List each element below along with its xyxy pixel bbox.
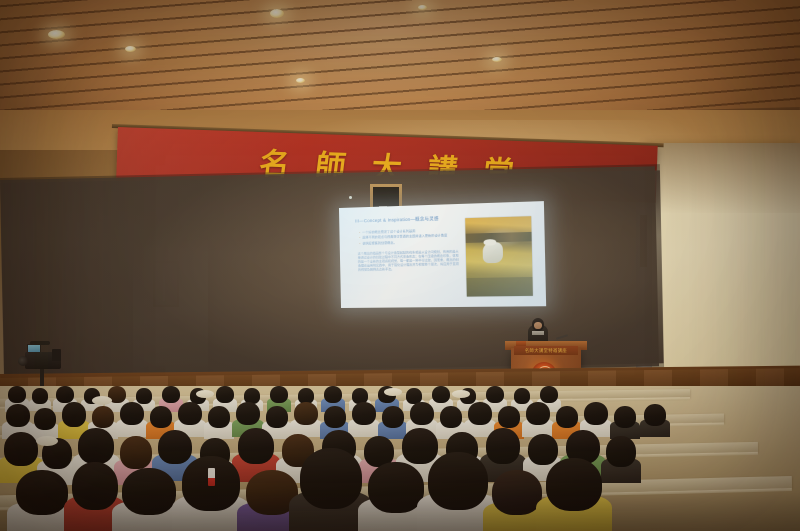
audience-member-head bbox=[410, 402, 434, 425]
audience-member-head bbox=[208, 406, 230, 428]
audience-member-head bbox=[324, 406, 346, 428]
presenter-face bbox=[534, 322, 542, 329]
right-pilaster-shadow bbox=[648, 143, 800, 213]
audience-member-head bbox=[614, 406, 636, 428]
sun-hat-4 bbox=[452, 390, 470, 398]
audience-member-head bbox=[158, 430, 192, 464]
audience-member-head bbox=[540, 386, 558, 403]
audience-member-head bbox=[270, 386, 288, 403]
downlight-6-icon bbox=[492, 57, 502, 62]
downlight-4-icon bbox=[296, 78, 305, 83]
audience-member-head bbox=[32, 388, 48, 404]
downlight-5-icon bbox=[418, 5, 427, 10]
wall-indicator-light bbox=[349, 196, 352, 199]
audience-member-head bbox=[486, 428, 520, 464]
audience-member-head bbox=[382, 406, 404, 428]
audience-member-head bbox=[584, 402, 608, 425]
audience-member-head bbox=[92, 406, 114, 428]
audience-member-head bbox=[62, 402, 86, 427]
audience-member-head bbox=[78, 428, 114, 464]
audience-member-head bbox=[526, 402, 550, 425]
projection-screen: III—Concept & Inspiration—概念与灵感 一个好的概念奠定… bbox=[339, 201, 546, 308]
audience-section bbox=[0, 386, 800, 531]
audience-member-head bbox=[56, 386, 74, 403]
audience-member-head bbox=[498, 406, 520, 428]
audience-member-head bbox=[556, 406, 578, 428]
audience-member-head bbox=[8, 386, 26, 403]
audience-member-head bbox=[150, 406, 172, 428]
audience-member-head bbox=[294, 402, 318, 425]
audience-member-head bbox=[216, 386, 234, 403]
audience-member-head bbox=[34, 408, 56, 430]
audience-member-head bbox=[6, 404, 30, 427]
sun-hat-1 bbox=[92, 396, 112, 405]
camera-handle bbox=[30, 341, 50, 345]
sun-hat-2 bbox=[196, 390, 214, 398]
audience-member-head bbox=[178, 402, 202, 425]
camera-viewfinder bbox=[52, 349, 61, 361]
sun-hat-3 bbox=[384, 388, 402, 396]
audience-member-head bbox=[120, 436, 152, 469]
audience-member-head bbox=[606, 436, 636, 467]
audience-member-head bbox=[352, 402, 376, 425]
audience-member-head bbox=[136, 388, 152, 404]
audience-member-head bbox=[432, 386, 450, 403]
audience-member-head bbox=[4, 432, 38, 466]
audience-member-head bbox=[486, 386, 504, 403]
audience-member-head bbox=[402, 428, 438, 464]
audience-member-head bbox=[644, 404, 666, 426]
podium-nameplate-text: 名師大講堂特邀講座 bbox=[525, 348, 567, 354]
screen-glare bbox=[339, 201, 546, 308]
audience-member-head bbox=[440, 406, 462, 428]
audience-member-head bbox=[468, 402, 492, 425]
audience-foreground-shade bbox=[0, 491, 800, 531]
audience-member-head bbox=[236, 402, 260, 425]
water-bottle bbox=[208, 468, 215, 486]
audience-member-head bbox=[266, 406, 288, 428]
auditorium-photo: 名 師 大 講 堂 III—Concept & Inspiration—概念与灵… bbox=[0, 0, 800, 531]
audience-member-head bbox=[514, 388, 530, 404]
presenter-collar bbox=[532, 331, 544, 335]
downlight-2-icon bbox=[125, 46, 136, 52]
audience-member-head bbox=[528, 434, 558, 465]
audience-member-head bbox=[120, 402, 144, 425]
cap-1 bbox=[36, 436, 58, 446]
camera-lens bbox=[18, 356, 28, 366]
audience-member-head bbox=[162, 386, 180, 403]
downlight-3-icon bbox=[270, 9, 284, 18]
podium-nameplate: 名師大講堂特邀講座 bbox=[514, 346, 578, 355]
downlight-1-icon bbox=[48, 30, 65, 39]
audience-member-head bbox=[238, 428, 274, 464]
audience-member-head bbox=[324, 386, 342, 403]
